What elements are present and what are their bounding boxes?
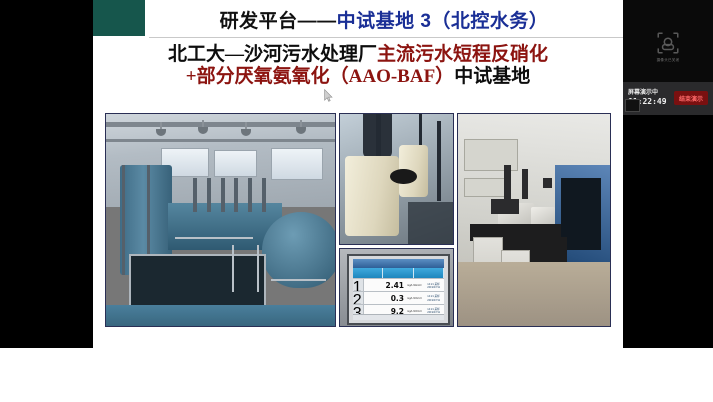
subtitle-line2-black: 中试基地 [454, 66, 530, 87]
camera-off-icon [655, 30, 681, 56]
monitor-row-value: 0.3 [364, 294, 406, 303]
letterbox-bar-right [623, 115, 713, 348]
monitor-titlebar [353, 259, 444, 268]
monitor-row-extra: 14:21 采样 2019/07/11 [425, 283, 444, 289]
slide-subtitle: 北工大—沙河污水处理厂主流污水短程反硝化 +部分厌氧氨氧化（AAO-BAF）中试… [93, 44, 623, 89]
subtitle-line1-black: 北工大—沙河污水处理厂 [168, 44, 377, 65]
subtitle-line-2: +部分厌氧氨氧化（AAO-BAF）中试基地 [93, 66, 623, 88]
photo-online-monitor-screen: 1 2.41 mg/L NH4-N 14:21 采样 2019/07/11 2 … [339, 248, 454, 327]
photo-chemical-dosing-carboys [339, 113, 454, 245]
slide-title-band: 研发平台——中试基地 3（北控水务） [93, 0, 623, 40]
camera-preview-thumbnail[interactable] [625, 99, 640, 112]
monitor-row-extra: 14:21 采样 2019/07/11 [425, 295, 444, 301]
monitor-screen: 1 2.41 mg/L NH4-N 14:21 采样 2019/07/11 2 … [353, 259, 444, 320]
self-video-placeholder-label: 摄像头已关闭 [623, 58, 713, 63]
mouse-cursor-icon [324, 89, 333, 102]
self-video-thumbnail[interactable]: 摄像头已关闭 [623, 0, 713, 82]
page-title: 研发平台——中试基地 3（北控水务） [149, 2, 619, 36]
subtitle-line2-red: +部分厌氧氨氧化（AAO-BAF） [186, 66, 454, 87]
subtitle-line1-red: 主流污水短程反硝化 [377, 44, 548, 65]
monitor-column-headers [353, 268, 444, 279]
screen-share-overlay-panel[interactable]: 摄像头已关闭 屏幕演示中 01:22:49 结束演示 [623, 0, 713, 115]
screen-share-viewport: 研发平台——中试基地 3（北控水务） 北工大—沙河污水处理厂主流污水短程反硝化 … [0, 0, 713, 402]
photo-laboratory-bench [457, 113, 611, 327]
monitor-row-unit: mg/L NO2-N [406, 297, 425, 300]
monitor-row-unit: mg/L NO3-N [406, 310, 425, 313]
title-black-part: 研发平台—— [220, 6, 337, 33]
presentation-slide: 研发平台——中试基地 3（北控水务） 北工大—沙河污水处理厂主流污水短程反硝化 … [93, 0, 623, 348]
monitor-statusbar [353, 314, 444, 320]
title-blue-part: 中试基地 3（北控水务） [337, 6, 549, 33]
end-share-button[interactable]: 结束演示 [674, 91, 708, 105]
monitor-col-1 [383, 268, 413, 279]
monitor-col-0 [353, 268, 383, 279]
title-underline [149, 37, 623, 38]
subtitle-line-1: 北工大—沙河污水处理厂主流污水短程反硝化 [93, 44, 623, 66]
monitor-row-value: 2.41 [364, 281, 406, 290]
share-status-label: 屏幕演示中 [628, 90, 667, 98]
slide-photo-grid: 1 2.41 mg/L NH4-N 14:21 采样 2019/07/11 2 … [105, 113, 611, 327]
monitor-col-2 [414, 268, 444, 279]
photo-pilot-plant-hall [105, 113, 336, 327]
monitor-row: 1 2.41 mg/L NH4-N 14:21 采样 2019/07/11 [353, 278, 444, 292]
monitor-row: 2 0.3 mg/L NO2-N 14:21 采样 2019/07/11 [353, 291, 444, 305]
monitor-row-unit: mg/L NH4-N [406, 284, 425, 287]
title-accent-band [93, 0, 145, 36]
letterbox-bar-left [0, 0, 93, 348]
